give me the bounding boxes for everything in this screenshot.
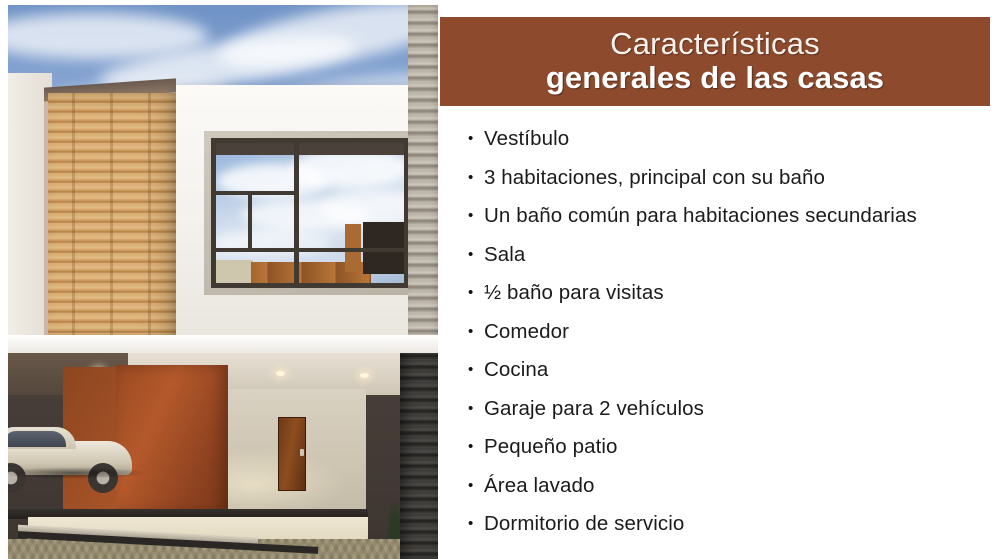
- list-item: • Vestíbulo: [466, 124, 996, 163]
- list-item-label: Pequeño patio: [484, 432, 618, 462]
- title-banner: Características generales de las casas: [440, 17, 990, 106]
- window-mullion: [294, 138, 299, 288]
- list-item: • Sala: [466, 240, 996, 279]
- list-item-label: Dormitorio de servicio: [484, 509, 684, 539]
- list-item: • Garaje para 2 vehículos: [466, 394, 996, 433]
- soffit-band: [8, 335, 438, 353]
- features-list: • Vestíbulo • 3 habitaciones, principal …: [466, 124, 996, 548]
- bullet-icon: •: [466, 163, 484, 193]
- downlight: [360, 373, 369, 378]
- door-handle: [300, 449, 304, 456]
- house-exterior-photo: [8, 5, 438, 559]
- list-item-label: Sala: [484, 240, 525, 270]
- slat-post: [148, 93, 151, 343]
- window-mullion: [211, 138, 409, 143]
- list-item-label: Comedor: [484, 317, 569, 347]
- downlight: [276, 371, 285, 376]
- dark-stone-column: [400, 349, 438, 559]
- bullet-icon: •: [466, 317, 484, 347]
- bullet-icon: •: [466, 124, 484, 154]
- window-header: [216, 143, 404, 155]
- bullet-icon: •: [466, 394, 484, 424]
- bullet-icon: •: [466, 432, 484, 462]
- window-mullion: [211, 191, 299, 195]
- bullet-icon: •: [466, 278, 484, 308]
- bullet-icon: •: [466, 355, 484, 385]
- bullet-icon: •: [466, 240, 484, 270]
- wooden-slat-screen: [48, 93, 176, 343]
- list-item-label: ½ baño para visitas: [484, 278, 664, 308]
- car-window: [8, 431, 66, 447]
- light-stone-column: [408, 5, 438, 343]
- carport-area: [8, 349, 438, 559]
- title-line-2: generales de las casas: [546, 61, 884, 95]
- window-mullion: [211, 283, 409, 288]
- window-mullion: [211, 248, 409, 252]
- slide: Características generales de las casas •…: [0, 0, 996, 559]
- list-item: • Cocina: [466, 355, 996, 394]
- slat-post: [72, 93, 75, 343]
- list-item: • Comedor: [466, 317, 996, 356]
- slat-post: [110, 93, 113, 343]
- window-glass: [211, 138, 409, 288]
- bullet-icon: •: [466, 471, 484, 501]
- features-panel: Características generales de las casas •…: [438, 0, 996, 559]
- car-shadow: [8, 467, 148, 479]
- title-line-1: Características: [610, 28, 820, 60]
- list-item: • Pequeño patio: [466, 432, 996, 471]
- window-mullion: [248, 191, 252, 249]
- bullet-icon: •: [466, 509, 484, 539]
- list-item-label: Vestíbulo: [484, 124, 569, 154]
- window-mullion: [211, 138, 216, 288]
- list-item-label: 3 habitaciones, principal con su baño: [484, 163, 825, 193]
- list-item: • Área lavado: [466, 471, 996, 510]
- list-item: • Un baño común para habitaciones secund…: [466, 201, 996, 240]
- glass-cloud-reflection: [211, 230, 331, 256]
- list-item-label: Un baño común para habitaciones secundar…: [484, 201, 917, 231]
- list-item-label: Cocina: [484, 355, 548, 385]
- bullet-icon: •: [466, 201, 484, 231]
- terracotta-accent-wall: [116, 365, 228, 513]
- list-item-label: Garaje para 2 vehículos: [484, 394, 704, 424]
- list-item: • 3 habitaciones, principal con su baño: [466, 163, 996, 202]
- list-item-label: Área lavado: [484, 471, 595, 501]
- list-item: • Dormitorio de servicio: [466, 509, 996, 548]
- list-item: • ½ baño para visitas: [466, 278, 996, 317]
